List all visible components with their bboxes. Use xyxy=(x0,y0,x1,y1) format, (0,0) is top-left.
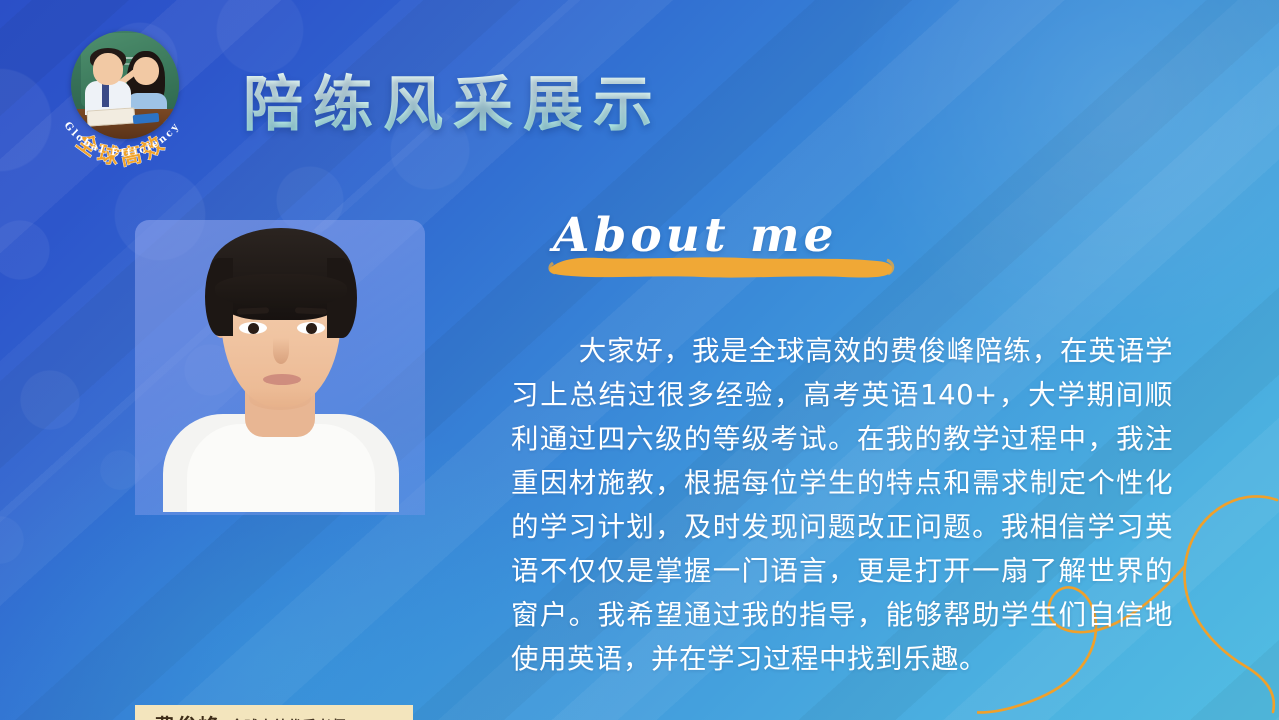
teacher-name: 费俊峰 xyxy=(154,711,220,720)
about-title: About me xyxy=(553,208,838,263)
name-banner: 费俊峰 全球高效优秀老师 xyxy=(135,705,425,720)
page-title: 陪练风采展示 xyxy=(243,56,663,143)
teacher-role: 全球高效优秀老师 xyxy=(230,716,346,720)
brand-logo[interactable]: 全球高效 Global Efficiency xyxy=(53,27,191,167)
about-heading-group: About me xyxy=(545,208,905,288)
background-glow-top-right xyxy=(839,0,1279,360)
teacher-portrait-photo xyxy=(157,192,403,512)
profile-card: 费俊峰 全球高效优秀老师 ·全国大学英语六级（CET6) ·高考英语140+ 应… xyxy=(135,220,425,654)
slide-canvas: 全球高效 Global Efficiency 陪练风采展示 xyxy=(0,0,1279,720)
about-body-text: 大家好，我是全球高效的费俊峰陪练，在英语学习上总结过很多经验，高考英语140+，… xyxy=(511,329,1173,681)
logo-arc-text: 全球高效 Global Efficiency xyxy=(53,79,191,169)
about-body-string: 大家好，我是全球高效的费俊峰陪练，在英语学习上总结过很多经验，高考英语140+，… xyxy=(511,335,1173,675)
